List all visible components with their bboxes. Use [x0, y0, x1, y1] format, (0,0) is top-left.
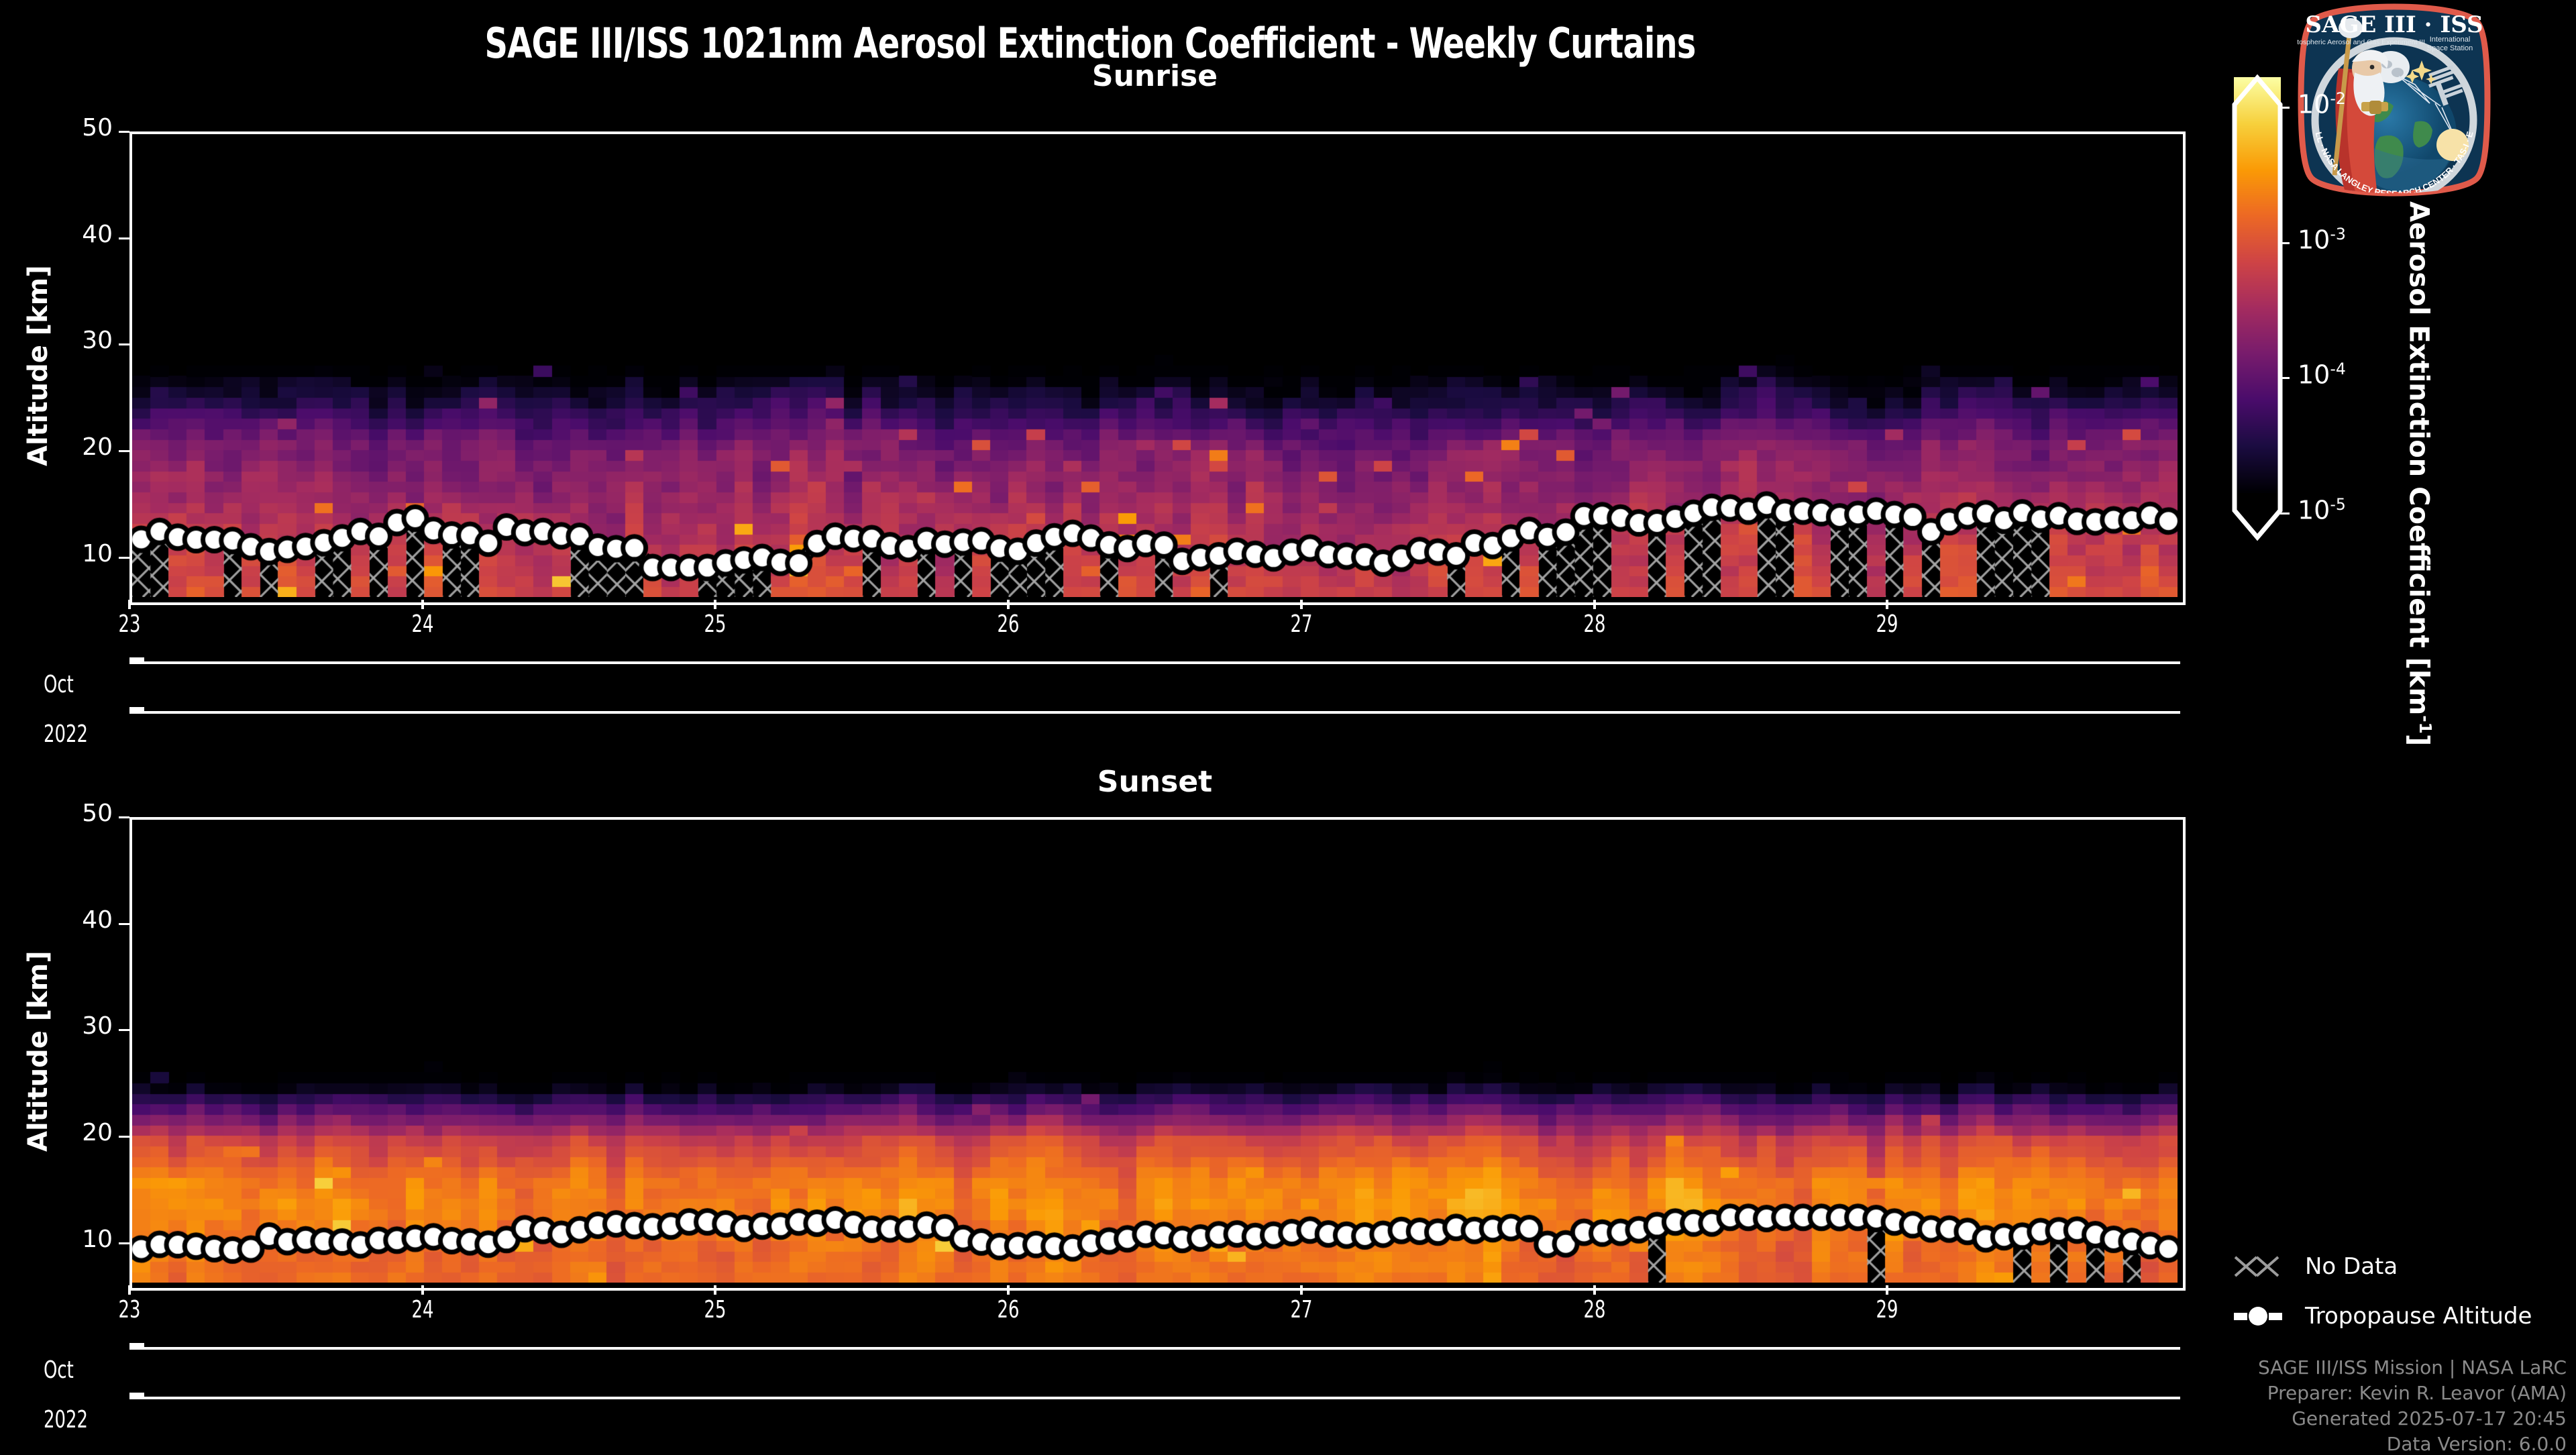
- x-axis-tick-label: 26: [965, 1296, 1051, 1324]
- colorbar-label-text: Aerosol Extinction Coefficient [km: [2404, 201, 2434, 715]
- y-axis-tick-mark: [119, 816, 129, 818]
- colorbar-tick-label: 10-2: [2298, 89, 2346, 119]
- y-axis-tick-label-sunset: 10: [32, 1226, 113, 1253]
- y-axis-tick-label-sunset: 40: [32, 906, 113, 934]
- x-axis-tick-label: 25: [672, 1296, 758, 1324]
- date-level-tick-month: [129, 657, 144, 664]
- colorbar-tick-label: 10-5: [2298, 495, 2346, 525]
- x-axis-tick-mark: [1007, 600, 1010, 609]
- y-axis-tick-mark: [119, 557, 129, 559]
- y-axis-label-sunrise: Altitude [km]: [23, 265, 54, 466]
- x-axis-tick-mark: [1593, 1285, 1596, 1295]
- legend-label-no-data: No Data: [2305, 1253, 2398, 1280]
- x-axis-tick-mark: [714, 1285, 716, 1295]
- date-level-line-month: [129, 1347, 2180, 1350]
- footer-preparer: Preparer: Kevin R. Leavor (AMA): [2267, 1382, 2567, 1404]
- x-axis-tick-label: 29: [1844, 610, 1930, 638]
- y-axis-tick-mark: [119, 1029, 129, 1031]
- x-axis-tick-label: 25: [672, 610, 758, 638]
- y-axis-tick-mark: [119, 923, 129, 925]
- x-axis-tick-label: 23: [87, 1296, 172, 1324]
- footer-generated: Generated 2025-07-17 20:45: [2292, 1407, 2567, 1430]
- y-axis-tick-mark: [119, 237, 129, 239]
- dashed-circle-icon: [2234, 1303, 2282, 1330]
- x-axis-tick-mark: [421, 1285, 424, 1295]
- hatch-icon: [2234, 1253, 2282, 1280]
- sunrise-plot-area[interactable]: [129, 131, 2186, 605]
- date-level-line-month: [129, 661, 2180, 664]
- y-axis-tick-label-sunset: 50: [32, 800, 113, 827]
- colorbar-label-exponent: -1: [2416, 715, 2435, 734]
- logo-subtitle-left: Stratospheric Aerosol and Gas Experiment…: [2297, 38, 2425, 46]
- legend-item-tropopause: Tropopause Altitude: [2234, 1303, 2532, 1330]
- footer-data-version: Data Version: 6.0.0: [2387, 1433, 2567, 1455]
- y-axis-label-sunset: Altitude [km]: [23, 951, 54, 1152]
- sunset-plot-area[interactable]: [129, 817, 2186, 1291]
- logo-title: SAGE III · ISS: [2305, 11, 2483, 38]
- x-axis-tick-label: 28: [1552, 610, 1638, 638]
- x-axis-tick-mark: [714, 600, 716, 609]
- colorbar-axis-label: Aerosol Extinction Coefficient [km-1]: [2404, 201, 2435, 746]
- y-axis-tick-label-sunrise: 40: [32, 221, 113, 248]
- date-level-label-year: 2022: [44, 720, 88, 748]
- x-axis-tick-mark: [1300, 1285, 1303, 1295]
- y-axis-tick-mark: [119, 1136, 129, 1138]
- y-axis-tick-label-sunrise: 10: [32, 540, 113, 568]
- date-level-tick-month: [129, 1343, 144, 1350]
- date-level-line-year: [129, 711, 2180, 714]
- sunset-heatmap: [132, 820, 2178, 1283]
- panel-title-sunset: Sunset: [129, 765, 2180, 799]
- y-axis-tick-label-sunrise: 50: [32, 114, 113, 142]
- colorbar-tick-mark: [2280, 107, 2290, 109]
- date-level-line-year: [129, 1397, 2180, 1399]
- x-axis-tick-label: 27: [1258, 1296, 1344, 1324]
- x-axis-tick-mark: [1886, 1285, 1888, 1295]
- colorbar-label-tail: ]: [2404, 734, 2434, 746]
- date-level-tick-year: [129, 1393, 144, 1399]
- y-axis-tick-mark: [119, 450, 129, 452]
- colorbar-tick-mark: [2280, 377, 2290, 379]
- x-axis-tick-mark: [1593, 600, 1596, 609]
- legend-label-tropopause: Tropopause Altitude: [2305, 1303, 2532, 1330]
- y-axis-tick-mark: [119, 1242, 129, 1244]
- x-axis-tick-label: 24: [380, 610, 466, 638]
- x-axis-tick-label: 23: [87, 610, 172, 638]
- date-level-tick-year: [129, 707, 144, 714]
- colorbar-tick-mark: [2280, 242, 2290, 244]
- x-axis-tick-label: 27: [1258, 610, 1344, 638]
- x-axis-tick-label: 24: [380, 1296, 466, 1324]
- footer-mission: SAGE III/ISS Mission | NASA LaRC: [2258, 1356, 2567, 1379]
- colorbar-tick-label: 10-3: [2298, 225, 2346, 255]
- date-level-label-year: 2022: [44, 1406, 88, 1434]
- y-axis-tick-mark: [119, 131, 129, 133]
- legend-item-no-data: No Data: [2234, 1253, 2398, 1280]
- date-level-label-month: Oct: [44, 1356, 74, 1384]
- sunrise-heatmap: [132, 134, 2178, 597]
- x-axis-tick-label: 29: [1844, 1296, 1930, 1324]
- x-axis-tick-mark: [128, 600, 131, 609]
- colorbar-tick-label: 10-4: [2298, 360, 2346, 390]
- colorbar-tick-mark: [2280, 513, 2290, 515]
- panel-title-sunrise: Sunrise: [129, 59, 2180, 93]
- colorbar-outline: [2231, 74, 2285, 544]
- x-axis-tick-mark: [1007, 1285, 1010, 1295]
- x-axis-tick-mark: [421, 600, 424, 609]
- y-axis-tick-mark: [119, 343, 129, 345]
- x-axis-tick-mark: [1886, 600, 1888, 609]
- logo-subtitle-right-1: International: [2430, 36, 2471, 44]
- x-axis-tick-mark: [1300, 600, 1303, 609]
- date-level-label-month: Oct: [44, 671, 74, 698]
- x-axis-tick-label: 28: [1552, 1296, 1638, 1324]
- x-axis-tick-label: 26: [965, 610, 1051, 638]
- x-axis-tick-mark: [128, 1285, 131, 1295]
- logo-subtitle-right-2: Space Station: [2427, 44, 2473, 52]
